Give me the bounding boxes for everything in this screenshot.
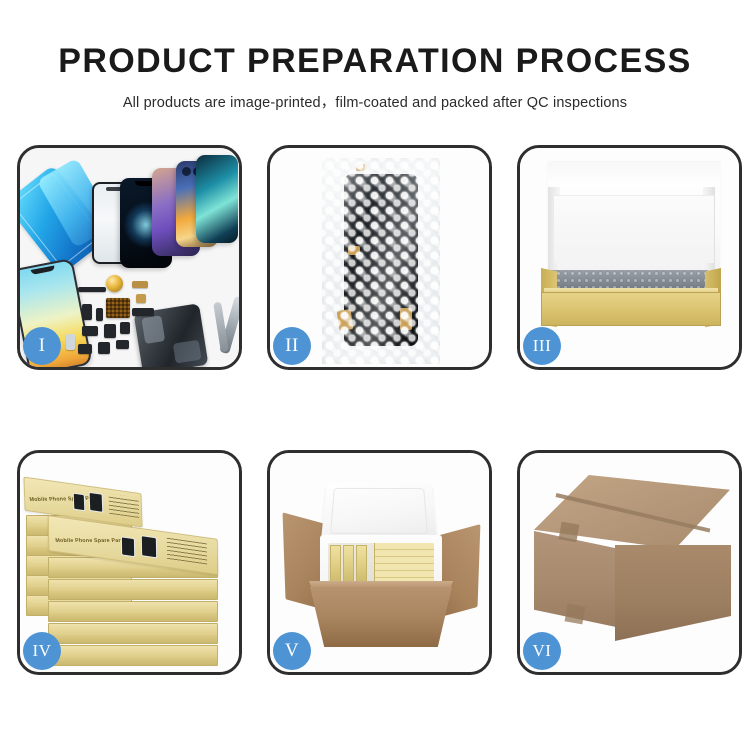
phone-screen-icon-4 <box>196 155 238 243</box>
chip-grid-icon <box>106 298 130 318</box>
step-badge-2: II <box>273 327 311 365</box>
kraft-box-upright-2 <box>343 545 354 583</box>
page-subtitle: All products are image-printed，film-coat… <box>0 91 750 112</box>
product-preparation-process-page: PRODUCT PREPARATION PROCESS All products… <box>0 0 750 750</box>
plastic-sheen-overlay <box>322 158 440 364</box>
step-card-1: I <box>17 145 242 370</box>
step-card-6: VI <box>517 450 742 675</box>
box-label-window-2 <box>141 535 157 558</box>
spare-part-icon-11 <box>116 340 129 349</box>
spare-part-icon-5 <box>96 308 103 321</box>
step-card-5: V <box>267 450 492 675</box>
kraft-box-front-face <box>541 292 721 326</box>
step-card-3: III <box>517 145 742 370</box>
spare-part-icon-3 <box>136 294 146 303</box>
spare-part-icon-10 <box>98 342 110 354</box>
step-badge-4: IV <box>23 632 61 670</box>
bubble-wrap-bag <box>322 158 440 364</box>
spare-part-icon-9 <box>78 344 92 354</box>
kraft-box-upright-3 <box>356 545 367 583</box>
step-card-4: Mobile Phone Spare Parts Mobile Phone Sp… <box>17 450 242 675</box>
carton-body <box>310 587 452 647</box>
spare-part-icon-7 <box>104 324 116 338</box>
step-badge-1: I <box>23 327 61 365</box>
box-label-spec-lines <box>167 537 207 565</box>
box-label-spec-lines <box>109 494 140 518</box>
kraft-box-layer <box>48 601 218 622</box>
box-label-window-1 <box>73 493 86 512</box>
step-card-2: II <box>267 145 492 370</box>
carton-handle-tab-1 <box>559 522 580 543</box>
sim-tray-icon <box>66 334 75 350</box>
kraft-box-stack-flat <box>374 543 434 585</box>
step-badge-5: V <box>273 632 311 670</box>
spare-part-icon-2 <box>132 281 148 288</box>
process-steps-grid: I II <box>17 145 736 675</box>
spare-part-icon-4 <box>82 304 92 320</box>
box-label-window-1 <box>121 536 135 557</box>
flex-cable-icon-1 <box>132 308 154 316</box>
vibration-motor-icon <box>106 275 123 292</box>
kraft-box-layer <box>48 645 218 666</box>
styrofoam-cavity <box>328 543 434 585</box>
step-badge-3: III <box>523 327 561 365</box>
header: PRODUCT PREPARATION PROCESS All products… <box>0 0 750 112</box>
box-label-window-2 <box>89 492 104 513</box>
carton-handle-tab-2 <box>565 604 586 625</box>
inner-foam-sheet <box>554 195 714 263</box>
kraft-box-layer <box>48 623 218 644</box>
step-badge-6: VI <box>523 632 561 670</box>
spare-part-icon-1 <box>78 287 106 292</box>
box-label-brand-text: Mobile Phone Spare Parts <box>55 538 126 544</box>
spare-part-icon-8 <box>120 322 130 334</box>
styrofoam-lid <box>321 482 437 541</box>
page-title: PRODUCT PREPARATION PROCESS <box>0 44 750 80</box>
sealed-carton-side-face <box>615 545 731 641</box>
white-foam-lid-top-face <box>548 161 720 187</box>
spare-part-icon-6 <box>82 326 98 336</box>
kraft-box-layer <box>48 579 218 600</box>
kraft-box-upright-1 <box>330 545 341 583</box>
